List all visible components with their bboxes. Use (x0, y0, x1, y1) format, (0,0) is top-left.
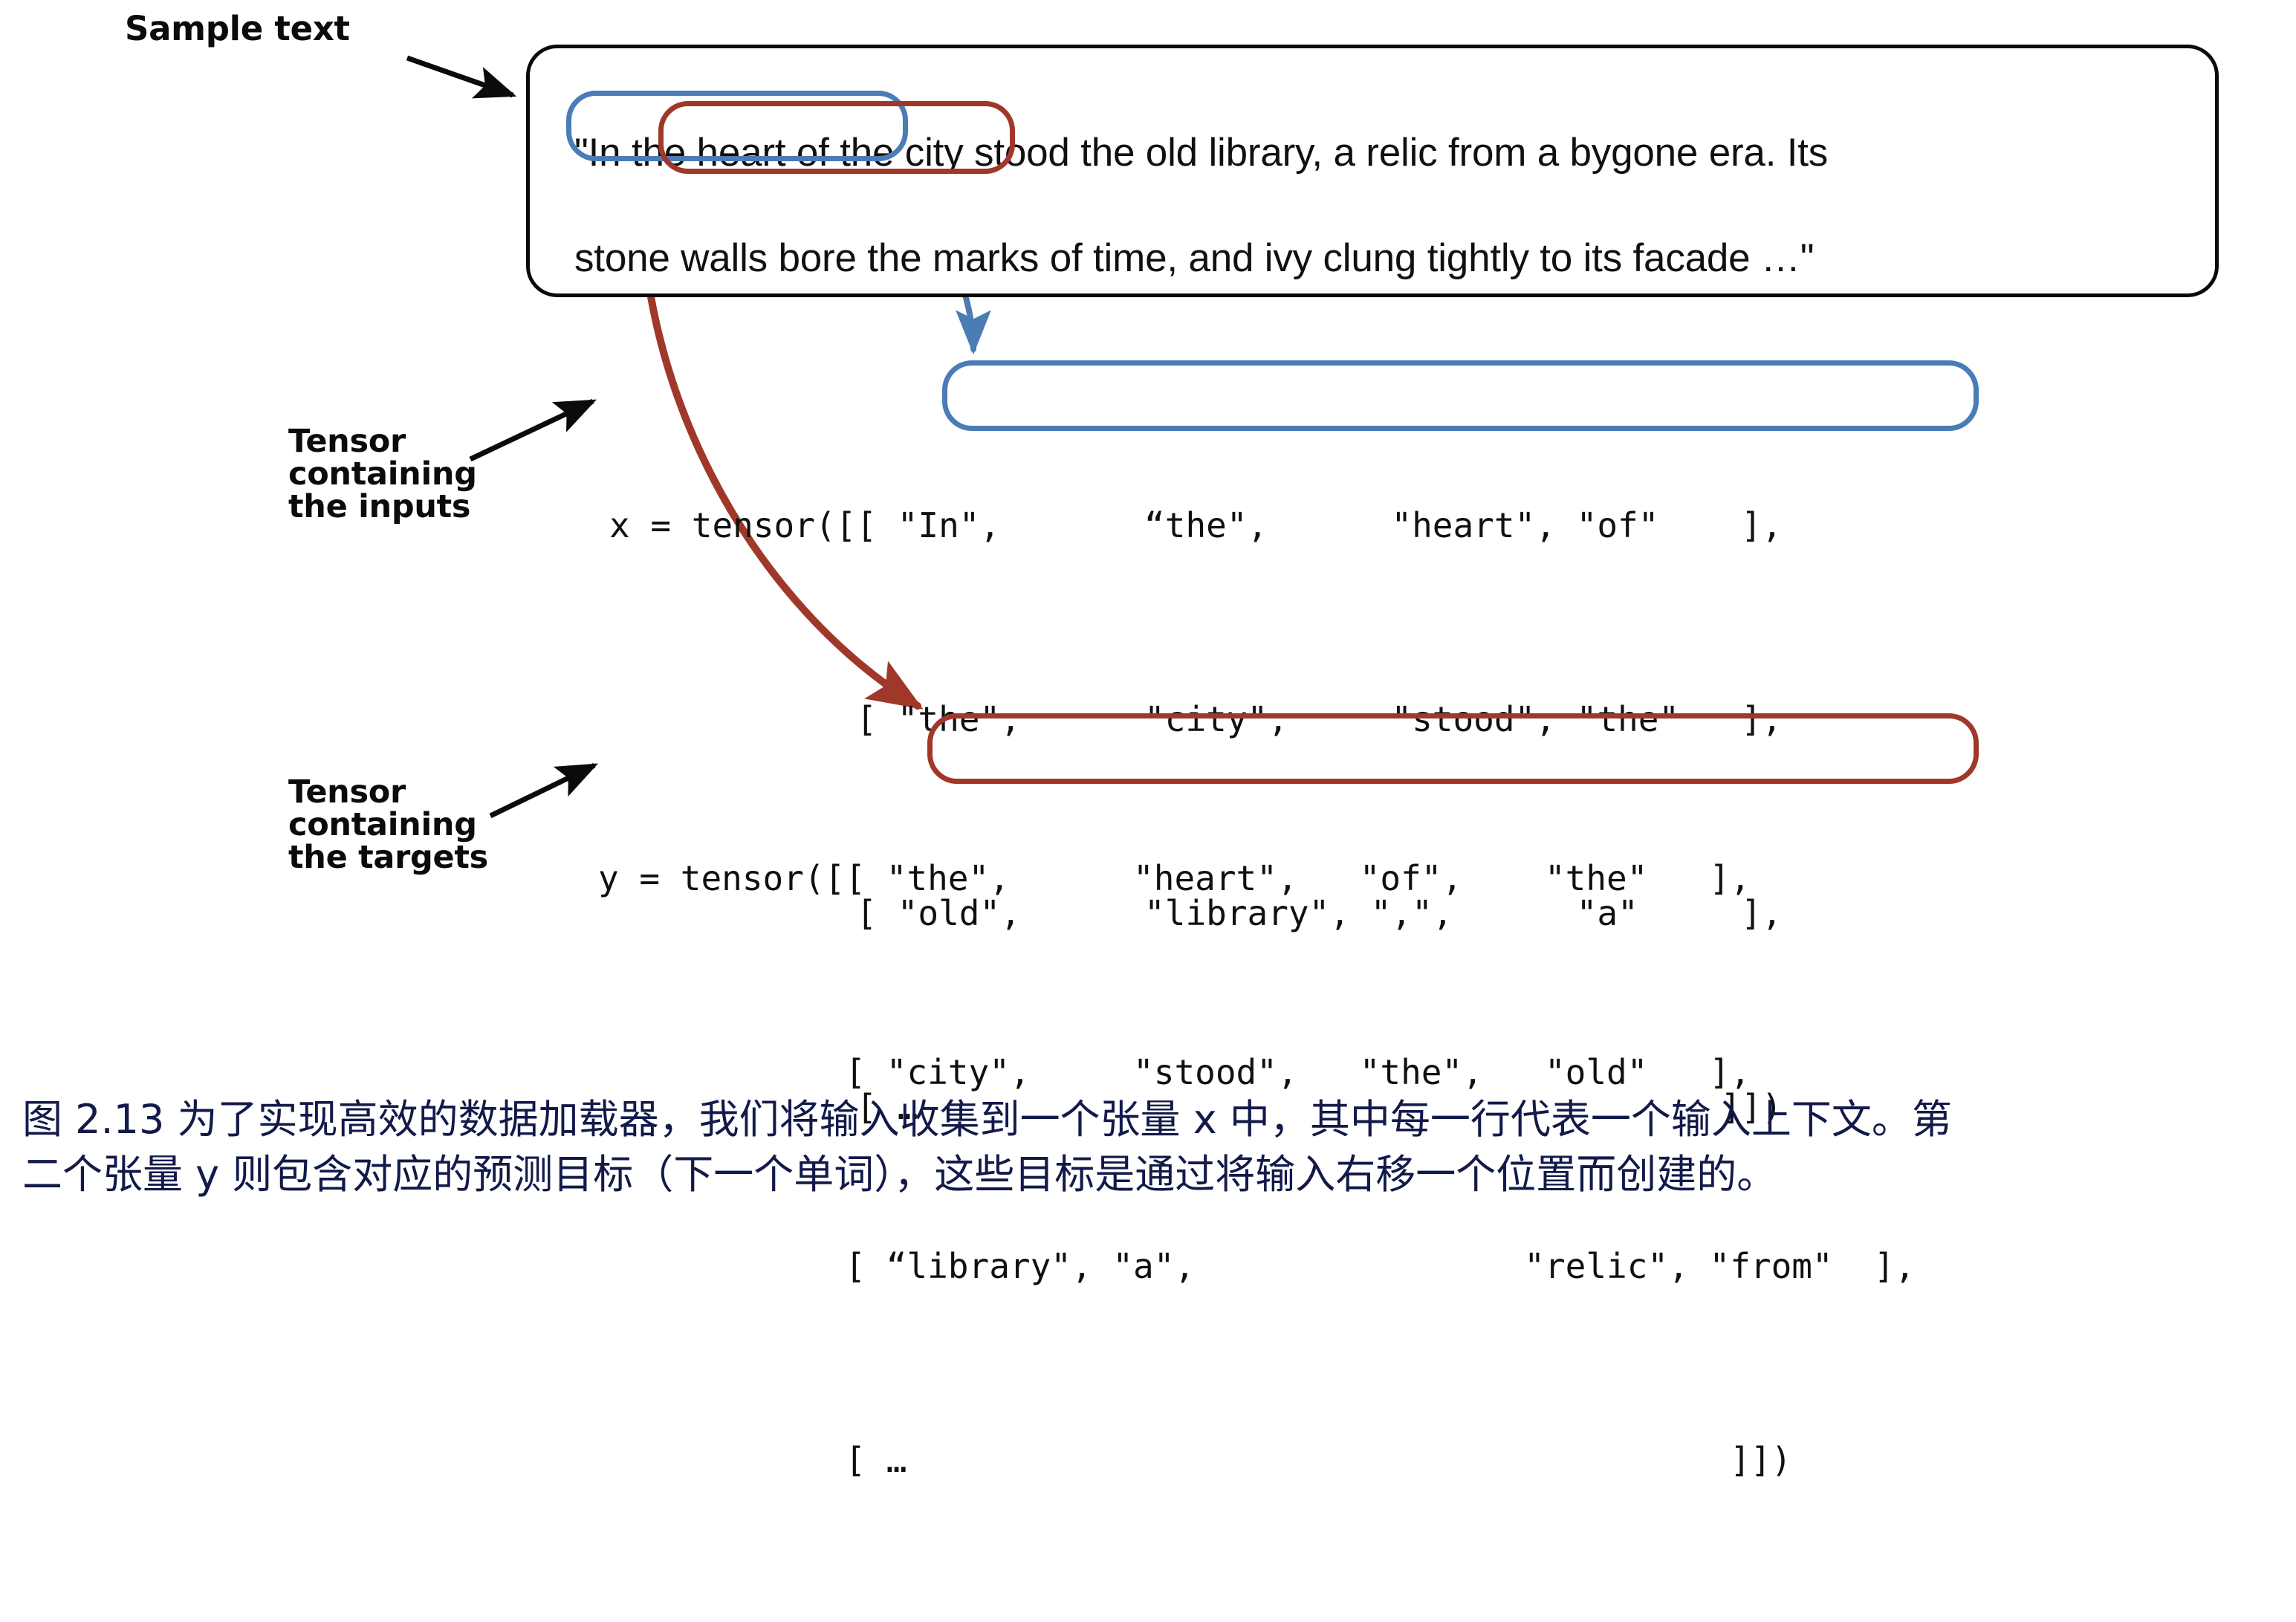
caption-line-2: 二个张量 y 则包含对应的预测目标（下一个单词），这些目标是通过将输入右移一个位… (22, 1147, 2274, 1202)
targets-pointer-arrow (490, 765, 594, 816)
sample-text-box: "In the heart of the city stood the old … (526, 45, 2219, 297)
figure-canvas: "In the heart of the city stood the old … (0, 0, 2296, 1239)
x-tensor-line-0: x = tensor([[ "In", “the", "heart", "of"… (609, 493, 1783, 558)
sample-text-annotation-label: Sample text (125, 12, 350, 46)
sample-text-line-1: "In the heart of the city stood the old … (574, 130, 1828, 175)
figure-caption: 图 2.13 为了实现高效的数据加载器，我们将输入收集到一个张量 x 中，其中每… (22, 1092, 2274, 1202)
sample-text-line-2: stone walls bore the marks of time, and … (574, 236, 1814, 281)
inputs-tensor-annotation-label: Tensor containing the inputs (288, 426, 477, 524)
y-tensor-line-0: y = tensor([[ "the", "heart", "of", "the… (598, 846, 1915, 911)
targets-tensor-annotation-label: Tensor containing the targets (288, 776, 488, 875)
caption-line-1: 图 2.13 为了实现高效的数据加载器，我们将输入收集到一个张量 x 中，其中每… (22, 1092, 2274, 1147)
inputs-pointer-arrow (470, 401, 593, 459)
y-tensor-line-3: [ … ]]) (598, 1428, 1915, 1493)
sample-text-pointer-arrow (407, 58, 513, 95)
y-tensor-line-2: [ “library", "a", "relic", "from" ], (598, 1234, 1915, 1299)
